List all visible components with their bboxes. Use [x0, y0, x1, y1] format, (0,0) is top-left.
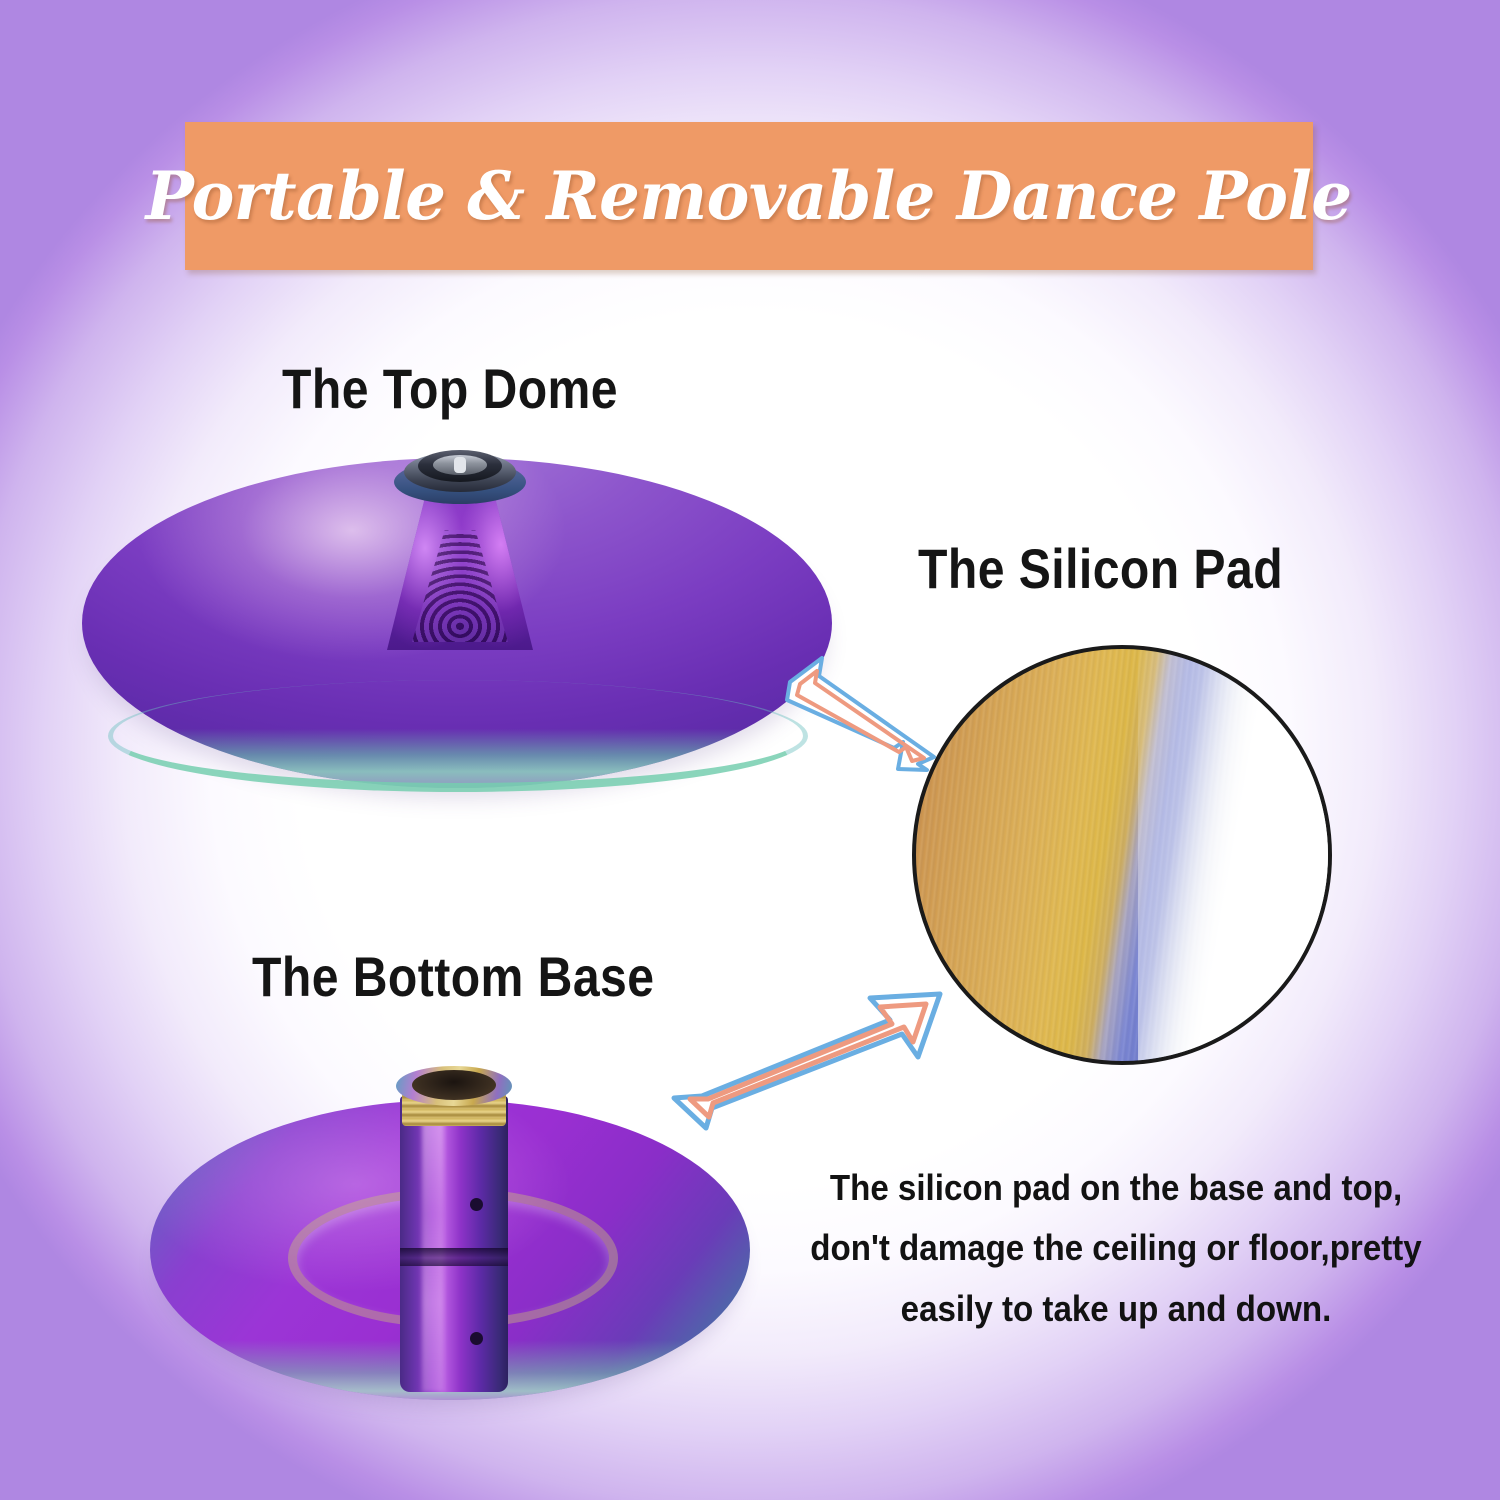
dome-rim-edge — [108, 680, 808, 792]
label-top-dome: The Top Dome — [282, 356, 618, 421]
page-title: Portable & Removable Dance Pole — [146, 157, 1352, 235]
dome-bearing-slot — [454, 457, 466, 473]
photo-bottom-base — [150, 1030, 750, 1420]
photo-top-dome — [82, 444, 832, 804]
base-post-hole-upper — [470, 1198, 483, 1211]
silicon-pad-highlight — [1138, 645, 1332, 1065]
base-center-post — [400, 1096, 508, 1392]
label-bottom-base: The Bottom Base — [252, 944, 654, 1009]
infographic-canvas: Portable & Removable Dance Pole The Top … — [0, 0, 1500, 1500]
arrow-base-to-silicon-pad-icon — [664, 968, 954, 1148]
base-post-highlight — [422, 1096, 444, 1392]
photo-silicon-pad-detail — [912, 645, 1332, 1065]
description-text: The silicon pad on the base and top, don… — [809, 1158, 1424, 1339]
arrow-dome-to-silicon-pad-icon — [786, 652, 946, 772]
base-bore-opening — [412, 1070, 496, 1100]
base-post-hole-lower — [470, 1332, 483, 1345]
label-silicon-pad: The Silicon Pad — [918, 536, 1283, 601]
base-post-band — [400, 1248, 508, 1266]
title-banner: Portable & Removable Dance Pole — [185, 122, 1313, 270]
